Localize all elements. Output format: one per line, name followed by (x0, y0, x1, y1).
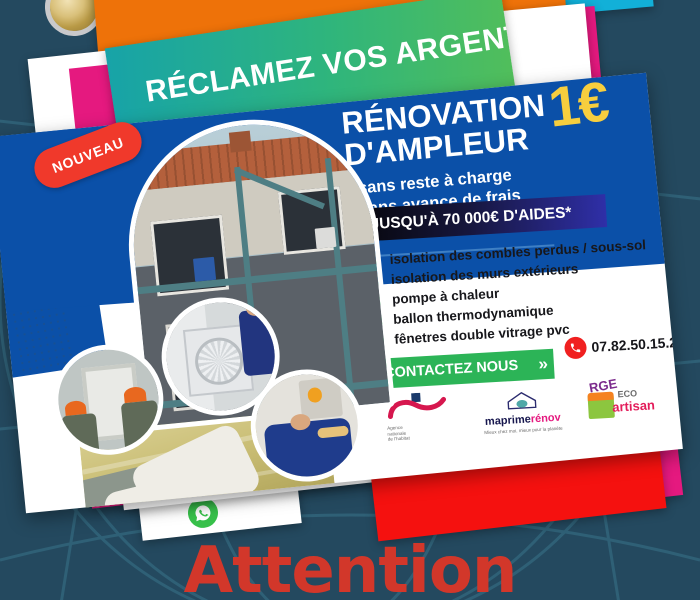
aides-banner-text: JUSQU'À 70 000€ D'AIDES* (354, 204, 572, 235)
plumber-boiler-photo (246, 364, 368, 486)
price-badge: 1€ (545, 73, 610, 140)
phone-number: 07.82.50.15.26 (591, 334, 683, 355)
maprimerenov-logo: maprimerénov Mieux chez moi, mieux pour … (479, 389, 565, 434)
chevron-right-icon: » (538, 354, 545, 374)
list-item-label: pompe à chaleur (392, 286, 500, 307)
phone-icon (564, 336, 587, 359)
rge-eco-artisan-logo: RGE ECO artisan (587, 379, 667, 427)
artisan-label: artisan (612, 397, 655, 414)
contact-button-label: CONTACTEZ NOUS (384, 358, 519, 382)
workers-window-install-photo (48, 340, 168, 460)
maprimerenov-word2: rénov (530, 412, 561, 426)
page-title: Attention (0, 534, 700, 600)
anah-logo: Agence nationale de l'habitat (385, 391, 457, 439)
maprimerenov-word1: maprime (485, 413, 531, 428)
poster-canvas: MAN DES RÉCLAMEZ VOS ARGENT d'engibilité (0, 0, 700, 600)
contact-button[interactable]: CONTACTEZ NOUS » (373, 349, 554, 389)
list-item-label: fênetres double vitrage pvc (394, 322, 570, 347)
